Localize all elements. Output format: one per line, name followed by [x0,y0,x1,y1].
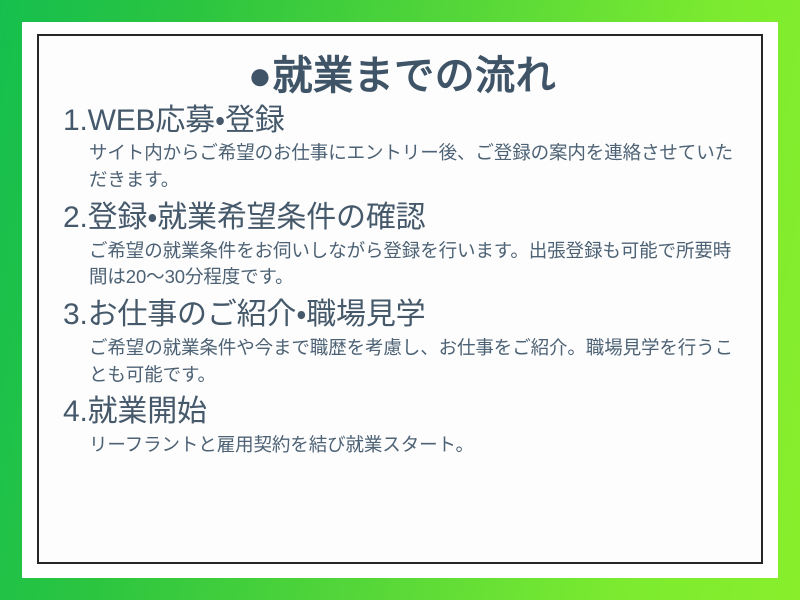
step-3-heading-text: お仕事のご紹介・職場見学 [88,298,426,331]
hand-drawn-frame: ●就業までの流れ 1.WEB応募・登録 サイト内からご希望のお仕事にエントリー後… [37,34,763,564]
slide-background: ●就業までの流れ 1.WEB応募・登録 サイト内からご希望のお仕事にエントリー後… [0,0,800,600]
slide-content: ●就業までの流れ 1.WEB応募・登録 サイト内からご希望のお仕事にエントリー後… [39,36,761,562]
step-item-4: 4.就業開始 リーフラントと雇用契約を結び就業スタート。 [63,394,741,458]
step-item-2: 2.登録・就業希望条件の確認 ご希望の就業条件をお伺いしながら登録を行います。出… [63,200,741,291]
step-4-body: リーフラントと雇用契約を結び就業スタート。 [89,432,741,459]
step-3-body: ご希望の就業条件や今まで職歴を考慮し、お仕事をご紹介。職場見学を行うことも可能で… [89,335,741,389]
step-4-heading-text: 就業開始 [88,395,207,428]
step-2-heading-text: 登録・就業希望条件の確認 [88,201,426,234]
step-4-number: 4. [63,395,88,428]
step-1-heading: 1.WEB応募・登録 [63,103,741,140]
step-1-number: 1. [63,104,88,137]
step-2-number: 2. [63,201,88,234]
step-item-3: 3.お仕事のご紹介・職場見学 ご希望の就業条件や今まで職歴を考慮し、お仕事をご紹… [63,297,741,388]
page-title: ●就業までの流れ [63,54,741,99]
step-item-1: 1.WEB応募・登録 サイト内からご希望のお仕事にエントリー後、ご登録の案内を連… [63,103,741,194]
step-3-number: 3. [63,298,88,331]
step-1-heading-text: WEB応募・登録 [88,104,285,137]
step-3-heading: 3.お仕事のご紹介・職場見学 [63,297,741,334]
steps-list: 1.WEB応募・登録 サイト内からご希望のお仕事にエントリー後、ご登録の案内を連… [63,103,741,459]
step-1-body: サイト内からご希望のお仕事にエントリー後、ご登録の案内を連絡させていただきます。 [89,140,741,194]
step-2-heading: 2.登録・就業希望条件の確認 [63,200,741,237]
step-2-body: ご希望の就業条件をお伺いしながら登録を行います。出張登録も可能で所要時間は20〜… [89,238,741,292]
paper-surface: ●就業までの流れ 1.WEB応募・登録 サイト内からご希望のお仕事にエントリー後… [22,22,778,578]
step-4-heading: 4.就業開始 [63,394,741,431]
